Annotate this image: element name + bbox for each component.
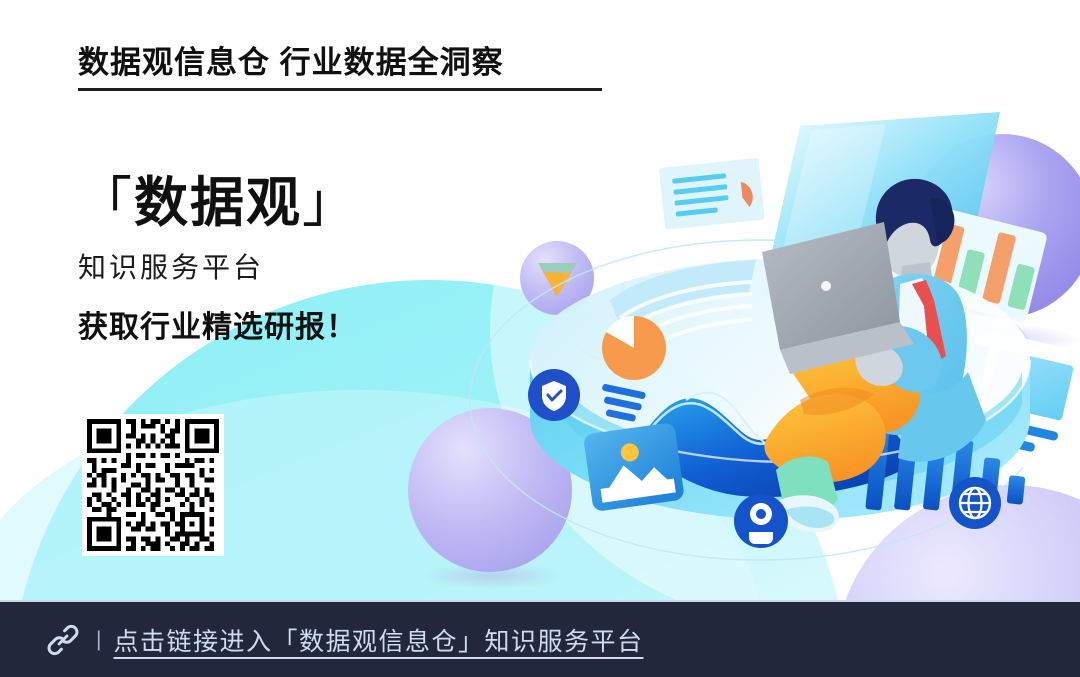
header-block: 数据观信息仓 行业数据全洞察 [78, 44, 618, 91]
image-photo-icon [583, 422, 685, 512]
header-underline [78, 88, 602, 91]
bottom-link-bar[interactable]: | 点击链接进入「数据观信息仓」知识服务平台 [0, 600, 1080, 677]
header-title: 数据观信息仓 行业数据全洞察 [78, 44, 618, 83]
poster-root: 数据观信息仓 行业数据全洞察 「数据观」 知识服务平台 获取行业精选研报！ [0, 0, 1080, 677]
webcam-icon [734, 494, 788, 548]
shield-check-icon [528, 369, 580, 421]
brand-open-bracket: 「 [78, 173, 134, 233]
bottom-bar-inner: | 点击链接进入「数据观信息仓」知识服务平台 [0, 621, 643, 659]
cta-text: 获取行业精选研报！ [78, 308, 358, 347]
qr-code[interactable] [82, 414, 224, 556]
brand-close-bracket: 」 [302, 173, 358, 233]
brand-subtitle: 知识服务平台 [78, 250, 358, 286]
bottom-bar-link-text[interactable]: 点击链接进入「数据观信息仓」知识服务平台 [113, 622, 643, 658]
link-chain-icon [44, 621, 82, 659]
globe-icon [949, 477, 1001, 529]
brand-name: 数据观 [134, 173, 302, 233]
copy-block: 「数据观」 知识服务平台 获取行业精选研报！ [78, 172, 358, 347]
floating-document-card [659, 158, 765, 230]
qr-code-image [82, 414, 224, 556]
bottom-bar-divider: | [96, 629, 101, 650]
brand-title: 「数据观」 [78, 172, 358, 236]
